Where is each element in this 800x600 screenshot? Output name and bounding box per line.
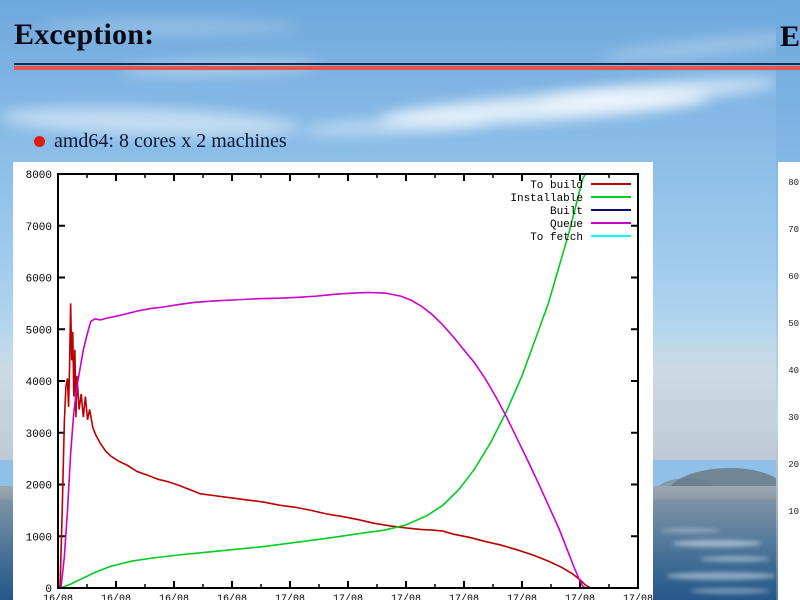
y-tick-label: 8000 — [26, 170, 52, 182]
next-slide-y-tick-label: 70 — [788, 225, 799, 235]
next-slide-title: E — [780, 20, 800, 54]
build-queue-line-chart: 010002000300040005000600070008000 16/081… — [13, 162, 653, 600]
next-slide-y-tick-label: 60 — [788, 272, 799, 282]
x-tick-label: 17/08 — [275, 593, 305, 600]
next-slide-divider-red — [776, 66, 800, 70]
next-slide-y-tick-label: 30 — [788, 413, 799, 423]
y-tick-label: 7000 — [26, 222, 52, 234]
title-divider — [14, 63, 786, 70]
next-slide-preview[interactable]: E 8070605040302010 — [776, 0, 800, 600]
next-slide-y-tick-label: 10 — [788, 507, 799, 517]
next-slide-y-tick-label: 40 — [788, 366, 799, 376]
chart-image: 010002000300040005000600070008000 16/081… — [13, 162, 653, 600]
x-tick-label: 17/08 — [565, 593, 595, 600]
next-slide-chart: 8070605040302010 — [778, 162, 800, 600]
y-tick-label: 1000 — [26, 532, 52, 544]
x-tick-label: 16/08 — [101, 593, 131, 600]
next-slide-y-tick-label: 20 — [788, 460, 799, 470]
bullet-label: amd64: 8 cores x 2 machines — [54, 130, 287, 153]
slide-content: Exception: amd64: 8 cores x 2 machines 0… — [0, 0, 800, 600]
legend-label: To build — [530, 180, 583, 192]
legend-label: To fetch — [530, 232, 583, 244]
y-tick-label: 3000 — [26, 429, 52, 441]
next-slide-divider — [776, 63, 800, 70]
list-item: amd64: 8 cores x 2 machines — [34, 130, 287, 153]
x-tick-label: 16/08 — [43, 593, 73, 600]
page-title: Exception: — [14, 20, 154, 50]
next-slide-y-tick-label: 80 — [788, 178, 799, 188]
x-tick-label: 17/08 — [391, 593, 421, 600]
y-tick-label: 4000 — [26, 377, 52, 389]
x-tick-label: 16/08 — [217, 593, 247, 600]
y-tick-label: 6000 — [26, 274, 52, 286]
legend-label: Built — [550, 206, 583, 218]
next-slide-divider-dark — [776, 63, 800, 65]
x-tick-label: 17/08 — [333, 593, 363, 600]
x-tick-label: 16/08 — [159, 593, 189, 600]
legend-label: Installable — [510, 193, 583, 205]
legend-label: Queue — [550, 219, 583, 231]
next-slide-y-tick-label: 50 — [788, 319, 799, 329]
red-dot-bullet-icon — [34, 136, 45, 147]
title-divider-red — [14, 66, 786, 70]
y-tick-label: 2000 — [26, 481, 52, 493]
y-tick-label: 5000 — [26, 325, 52, 337]
x-tick-label: 17/08 — [449, 593, 479, 600]
title-divider-dark — [14, 63, 786, 65]
x-tick-label: 17/08 — [623, 593, 653, 600]
x-tick-label: 17/08 — [507, 593, 537, 600]
